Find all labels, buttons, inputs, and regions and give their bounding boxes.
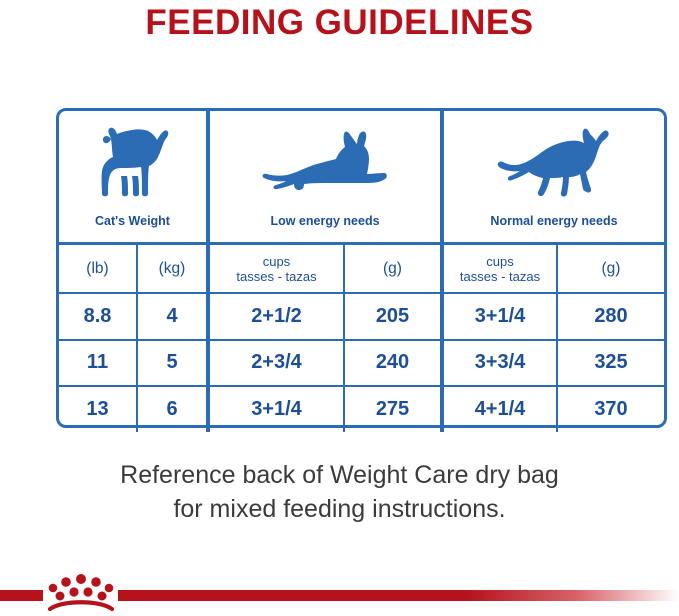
unit-cell-lb: (lb) <box>59 245 136 292</box>
cell-normal-grams: 280 <box>556 294 664 339</box>
caption-line-1: Reference back of Weight Care dry bag <box>0 458 679 492</box>
unit-label-low-cups-line1: cups <box>236 254 316 269</box>
table-header-icon-row: Cat's Weight Low energy needs Normal ene… <box>59 111 664 242</box>
lying-cat-icon <box>210 111 440 214</box>
page-title: FEEDING GUIDELINES <box>0 0 679 46</box>
cell-normal-cups: 3+1/4 <box>440 294 556 339</box>
unit-cell-normal-grams: (g) <box>556 245 664 292</box>
standing-cat-icon <box>59 111 206 214</box>
unit-label-normal-cups-line2: tasses - tazas <box>460 269 540 284</box>
header-label-low-energy: Low energy needs <box>270 214 379 236</box>
cell-kg: 4 <box>136 294 206 339</box>
unit-cell-normal-cups: cups tasses - tazas <box>440 245 556 292</box>
header-group-cats-weight: Cat's Weight <box>59 111 206 242</box>
header-label-cats-weight: Cat's Weight <box>95 214 170 236</box>
cell-kg: 5 <box>136 341 206 386</box>
footer-brand-bar <box>0 564 679 616</box>
unit-label-low-cups-line2: tasses - tazas <box>236 269 316 284</box>
walking-cat-icon <box>444 111 664 214</box>
unit-label-kg: (kg) <box>159 261 186 277</box>
cell-kg: 6 <box>136 387 206 432</box>
unit-label-lb: (lb) <box>86 261 108 277</box>
table-row: 13 6 3+1/4 275 4+1/4 370 <box>59 385 664 432</box>
footer-rule-left <box>0 590 43 601</box>
table-unit-row: (lb) (kg) cups tasses - tazas (g) cups t… <box>59 242 664 292</box>
cell-normal-grams: 325 <box>556 341 664 386</box>
feeding-guidelines-table: Cat's Weight Low energy needs Normal ene… <box>56 108 667 428</box>
unit-label-normal-cups-line1: cups <box>460 254 540 269</box>
unit-label-normal-grams: (g) <box>602 261 621 277</box>
header-label-normal-energy: Normal energy needs <box>490 214 617 236</box>
unit-label-low-grams: (g) <box>383 261 402 277</box>
cell-lb: 13 <box>59 387 136 432</box>
unit-cell-low-grams: (g) <box>343 245 440 292</box>
cell-low-grams: 205 <box>343 294 440 339</box>
table-row: 11 5 2+3/4 240 3+3/4 325 <box>59 339 664 386</box>
caption-line-2: for mixed feeding instructions. <box>0 492 679 526</box>
cell-low-grams: 275 <box>343 387 440 432</box>
cell-normal-cups: 4+1/4 <box>440 387 556 432</box>
caption: Reference back of Weight Care dry bag fo… <box>0 458 679 526</box>
cell-normal-grams: 370 <box>556 387 664 432</box>
header-group-low-energy: Low energy needs <box>206 111 440 242</box>
header-group-normal-energy: Normal energy needs <box>440 111 664 242</box>
cell-low-cups: 3+1/4 <box>206 387 343 432</box>
cell-lb: 11 <box>59 341 136 386</box>
cell-low-cups: 2+1/2 <box>206 294 343 339</box>
cell-low-cups: 2+3/4 <box>206 341 343 386</box>
cell-low-grams: 240 <box>343 341 440 386</box>
table-row: 8.8 4 2+1/2 205 3+1/4 280 <box>59 292 664 339</box>
footer-rule-right <box>118 590 679 601</box>
unit-cell-kg: (kg) <box>136 245 206 292</box>
royal-canin-crown-logo <box>44 571 118 611</box>
unit-cell-low-cups: cups tasses - tazas <box>206 245 343 292</box>
cell-normal-cups: 3+3/4 <box>440 341 556 386</box>
cell-lb: 8.8 <box>59 294 136 339</box>
